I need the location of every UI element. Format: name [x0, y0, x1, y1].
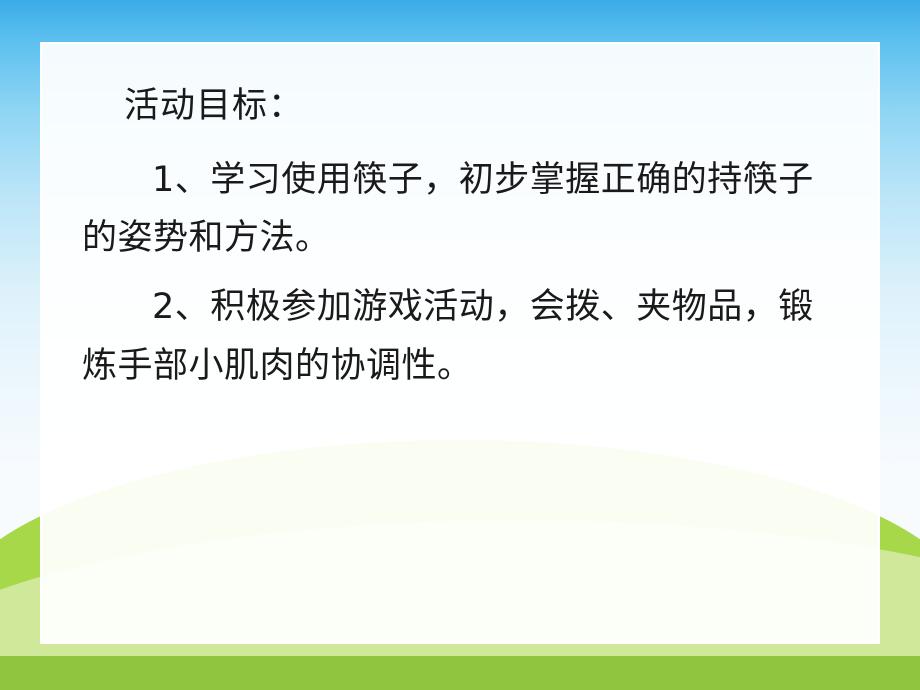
objective-paragraph-1: 1、学习使用筷子，初步掌握正确的持筷子的姿势和方法。: [82, 151, 838, 269]
slide-canvas: 活动目标： 1、学习使用筷子，初步掌握正确的持筷子的姿势和方法。 2、积极参加游…: [0, 0, 920, 690]
bottom-green-band: [0, 656, 920, 690]
content-card: 活动目标： 1、学习使用筷子，初步掌握正确的持筷子的姿势和方法。 2、积极参加游…: [40, 42, 880, 644]
slide-heading: 活动目标：: [124, 80, 838, 133]
objective-paragraph-2: 2、积极参加游戏活动，会拨、夹物品，锻炼手部小肌肉的协调性。: [82, 278, 838, 396]
content-card-inner: 活动目标： 1、学习使用筷子，初步掌握正确的持筷子的姿势和方法。 2、积极参加游…: [42, 44, 878, 642]
